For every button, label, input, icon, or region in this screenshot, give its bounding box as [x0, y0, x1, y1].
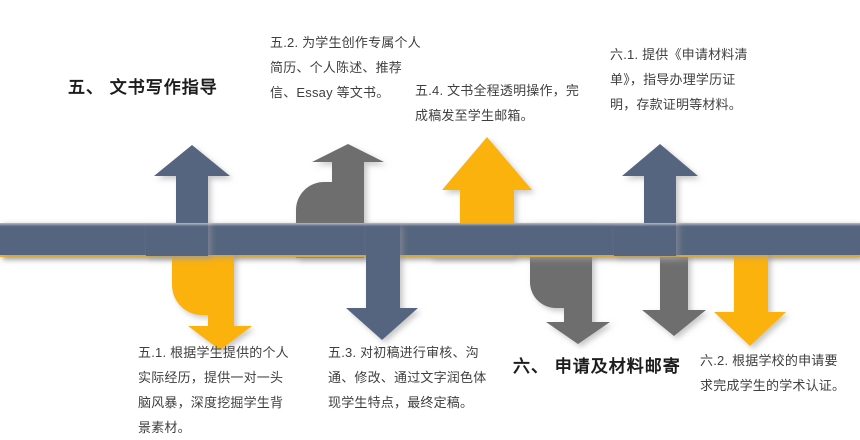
section-title-6: 六、 申请及材料邮寄 — [513, 355, 681, 379]
caption-step-5-3: 五.3. 对初稿进行审核、沟通、修改、通过文字润色体现学生特点，最终定稿。 — [328, 340, 488, 415]
caption-step-6-2: 六.2. 根据学校的申请要求完成学生的学术认证。 — [700, 348, 850, 398]
caption-step-5-1: 五.1. 根据学生提供的个人实际经历，提供一对一头脑风暴，深度挖掘学生背景素材。 — [138, 340, 290, 440]
slide-canvas: 五、 文书写作指导 六、 申请及材料邮寄 五.2. 为学生创作专属个人简历、个人… — [0, 0, 860, 437]
caption-step-5-4: 五.4. 文书全程透明操作，完成稿发至学生邮箱。 — [415, 78, 580, 128]
section-title-5: 五、 文书写作指导 — [68, 76, 218, 100]
band-gloss — [0, 223, 860, 233]
caption-step-6-1: 六.1. 提供《申请材料清单》，指导办理学历证明，存款证明等材料。 — [610, 42, 760, 117]
caption-step-5-2: 五.2. 为学生创作专属个人简历、个人陈述、推荐信、Essay 等文书。 — [270, 30, 425, 105]
